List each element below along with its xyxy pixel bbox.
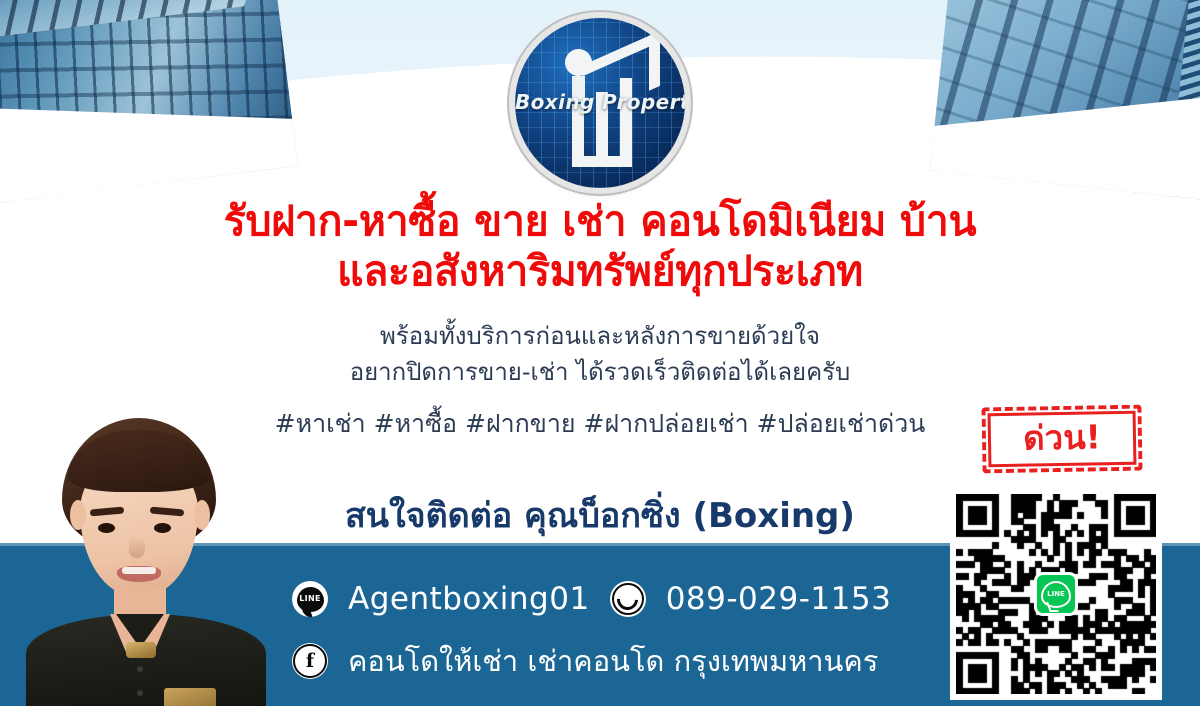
portrait-eye-left: [98, 523, 115, 533]
portrait-button-2: [137, 690, 143, 696]
skyscraper-photo-top-right: [930, 0, 1200, 200]
facebook-page-label[interactable]: คอนโดให้เช่า เช่าคอนโด กรุงเทพมหานคร: [348, 647, 878, 676]
line-id-label[interactable]: Agentboxing01: [348, 584, 590, 615]
phone-number-label[interactable]: 089-029-1153: [666, 584, 892, 615]
qr-badge-label: LINE: [1047, 591, 1065, 598]
urgent-stamp-label: ด่วน!: [986, 409, 1139, 470]
advertisement-poster: Boxing Property รับฝาก-หาซื้อ ขาย เช่า ค…: [0, 0, 1200, 706]
subtitle-line-1: พร้อมทั้งบริการก่อนและหลังการขายด้วยใจ: [0, 318, 1200, 354]
contact-list: LINE Agentboxing01 089-029-1153 f คอนโดใ…: [292, 568, 912, 692]
portrait-teeth: [122, 567, 156, 574]
headline-line-1: รับฝาก-หาซื้อ ขาย เช่า คอนโดมิเนียม บ้าน: [224, 197, 976, 245]
page-title: รับฝาก-หาซื้อ ขาย เช่า คอนโดมิเนียม บ้าน…: [0, 196, 1200, 296]
contact-row-line-and-phone: LINE Agentboxing01 089-029-1153: [292, 568, 912, 630]
line-icon[interactable]: LINE: [292, 581, 328, 617]
agent-portrait-photo: [18, 408, 268, 706]
subtitle: พร้อมทั้งบริการก่อนและหลังการขายด้วยใจ อ…: [0, 318, 1200, 390]
portrait-name-badge: [164, 688, 216, 706]
qr-line-badge-icon: LINE: [1034, 572, 1078, 616]
subtitle-line-2: อยากปิดการขาย-เช่า ได้รวดเร็วติดต่อได้เล…: [0, 354, 1200, 390]
portrait-ear-right: [194, 500, 210, 530]
portrait-button-1: [137, 666, 143, 672]
logo-text: Boxing Property: [515, 90, 685, 114]
boxing-property-logo: Boxing Property: [515, 18, 685, 188]
logo-base-bar: [572, 156, 632, 167]
contact-row-facebook: f คอนโดให้เช่า เช่าคอนโด กรุงเทพมหานคร: [292, 630, 912, 692]
phone-icon[interactable]: [610, 581, 646, 617]
facebook-icon[interactable]: f: [292, 643, 328, 679]
portrait-ear-left: [70, 500, 86, 530]
line-qr-code[interactable]: LINE: [950, 488, 1162, 700]
headline-line-2: และอสังหาริมทรัพย์ทุกประเภท: [0, 246, 1200, 296]
portrait-brooch: [126, 642, 156, 658]
urgent-stamp: ด่วน!: [981, 405, 1142, 474]
portrait-eye-right: [154, 523, 171, 533]
portrait-nose: [129, 536, 145, 558]
